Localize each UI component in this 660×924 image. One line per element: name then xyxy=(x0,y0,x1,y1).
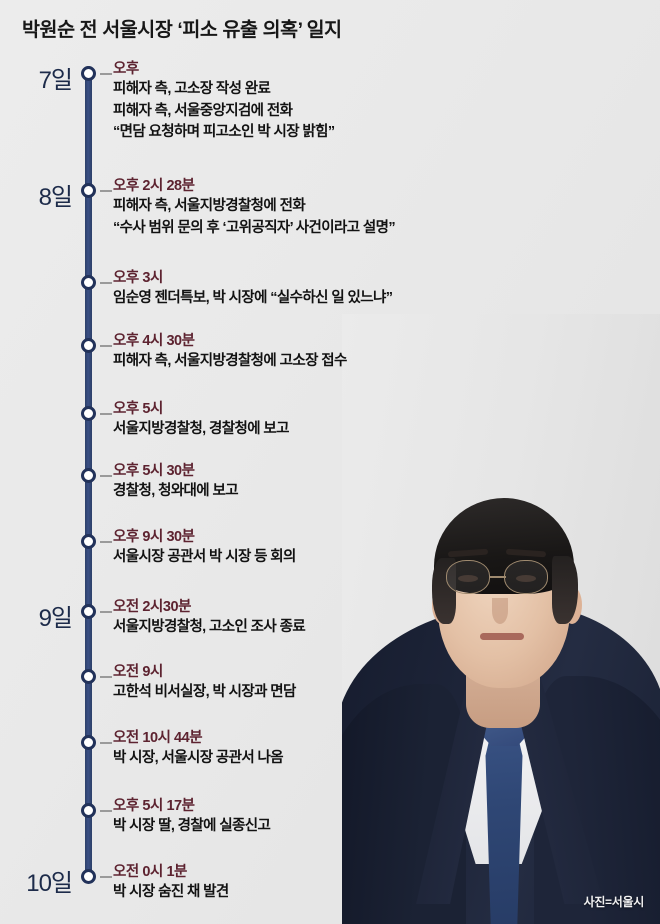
timeline-entry-body: 오후피해자 측, 고소장 작성 완료피해자 측, 서울중앙지검에 전화“면담 요… xyxy=(113,60,335,144)
timeline-entry-time: 오전 10시 44분 xyxy=(113,729,283,748)
timeline-dot-icon xyxy=(81,534,96,549)
timeline-entry-body: 오후 9시 30분서울시장 공관서 박 시장 등 회의 xyxy=(113,528,296,569)
timeline: 7일오후피해자 측, 고소장 작성 완료피해자 측, 서울중앙지검에 전화“면담… xyxy=(0,0,660,924)
timeline-entry-line: 경찰청, 청와대에 보고 xyxy=(113,481,238,503)
timeline-entry-time: 오후 xyxy=(113,60,335,79)
timeline-dot-icon xyxy=(81,869,96,884)
timeline-connector-dash xyxy=(100,676,112,678)
timeline-entry-line: 서울지방경찰청, 고소인 조사 종료 xyxy=(113,617,305,639)
page-title: 박원순 전 서울시장 ‘피소 유출 의혹’ 일지 xyxy=(22,13,342,42)
timeline-dot-icon xyxy=(81,183,96,198)
timeline-connector-dash xyxy=(100,73,112,75)
day-label: 7일 xyxy=(0,60,72,95)
timeline-connector-dash xyxy=(100,810,112,812)
timeline-entry-body: 오전 9시고한석 비서실장, 박 시장과 면담 xyxy=(113,663,296,704)
day-label: 9일 xyxy=(0,598,72,633)
timeline-connector-dash xyxy=(100,611,112,613)
timeline-entry-time: 오후 5시 xyxy=(113,400,289,419)
timeline-dot-icon xyxy=(81,406,96,421)
timeline-dot-icon xyxy=(81,803,96,818)
timeline-entry-body: 오전 10시 44분박 시장, 서울시장 공관서 나옴 xyxy=(113,729,283,770)
timeline-entry-time: 오후 2시 28분 xyxy=(113,177,395,196)
timeline-connector-dash xyxy=(100,345,112,347)
timeline-entry-time: 오전 2시30분 xyxy=(113,598,305,617)
timeline-entry-line: “면담 요청하며 피고소인 박 시장 밝힘” xyxy=(113,122,335,144)
timeline-connector-dash xyxy=(100,190,112,192)
timeline-connector-dash xyxy=(100,413,112,415)
day-label: 8일 xyxy=(0,177,72,212)
timeline-entry-line: 박 시장, 서울시장 공관서 나옴 xyxy=(113,748,283,770)
timeline-entry-body: 오후 3시임순영 젠더특보, 박 시장에 “실수하신 일 있느냐” xyxy=(113,269,392,310)
day-label: 10일 xyxy=(0,863,72,898)
timeline-entry-line: 서울지방경찰청, 경찰청에 보고 xyxy=(113,419,289,441)
timeline-entry-time: 오후 9시 30분 xyxy=(113,528,296,547)
timeline-entry-time: 오전 0시 1분 xyxy=(113,863,229,882)
timeline-dot-icon xyxy=(81,66,96,81)
timeline-entry-body: 오후 5시 17분박 시장 딸, 경찰에 실종신고 xyxy=(113,797,270,838)
timeline-dot-icon xyxy=(81,338,96,353)
timeline-entry-line: 서울시장 공관서 박 시장 등 회의 xyxy=(113,547,296,569)
timeline-entry-line: 임순영 젠더특보, 박 시장에 “실수하신 일 있느냐” xyxy=(113,288,392,310)
timeline-connector-dash xyxy=(100,876,112,878)
timeline-dot-icon xyxy=(81,275,96,290)
timeline-entry-body: 오후 4시 30분피해자 측, 서울지방경찰청에 고소장 접수 xyxy=(113,332,347,373)
timeline-entry-line: 피해자 측, 서울지방경찰청에 전화 xyxy=(113,196,395,218)
timeline-entry-time: 오후 5시 30분 xyxy=(113,462,238,481)
timeline-connector-dash xyxy=(100,475,112,477)
timeline-entry-body: 오후 5시 30분경찰청, 청와대에 보고 xyxy=(113,462,238,503)
timeline-entry-line: 피해자 측, 서울지방경찰청에 고소장 접수 xyxy=(113,351,347,373)
timeline-entry-time: 오전 9시 xyxy=(113,663,296,682)
timeline-dot-icon xyxy=(81,735,96,750)
timeline-entry-line: 피해자 측, 서울중앙지검에 전화 xyxy=(113,101,335,123)
timeline-entry-time: 오후 4시 30분 xyxy=(113,332,347,351)
timeline-entry-body: 오후 2시 28분피해자 측, 서울지방경찰청에 전화“수사 범위 문의 후 ‘… xyxy=(113,177,395,239)
timeline-entry-time: 오후 3시 xyxy=(113,269,392,288)
timeline-entry-body: 오전 2시30분서울지방경찰청, 고소인 조사 종료 xyxy=(113,598,305,639)
timeline-connector-dash xyxy=(100,742,112,744)
timeline-connector-dash xyxy=(100,282,112,284)
timeline-connector-dash xyxy=(100,541,112,543)
timeline-dot-icon xyxy=(81,468,96,483)
timeline-entry-time: 오후 5시 17분 xyxy=(113,797,270,816)
infographic-page: 박원순 전 서울시장 ‘피소 유출 의혹’ 일지 7일오후피해자 측, 고소장 … xyxy=(0,0,660,924)
timeline-entry-line: 고한석 비서실장, 박 시장과 면담 xyxy=(113,682,296,704)
timeline-dot-icon xyxy=(81,669,96,684)
photo-credit: 사진=서울시 xyxy=(584,893,644,910)
timeline-entry-line: “수사 범위 문의 후 ‘고위공직자’ 사건이라고 설명” xyxy=(113,218,395,240)
timeline-dot-icon xyxy=(81,604,96,619)
timeline-entry-line: 피해자 측, 고소장 작성 완료 xyxy=(113,79,335,101)
timeline-entry-line: 박 시장 숨진 채 발견 xyxy=(113,882,229,904)
timeline-entry-body: 오후 5시서울지방경찰청, 경찰청에 보고 xyxy=(113,400,289,441)
timeline-entry-line: 박 시장 딸, 경찰에 실종신고 xyxy=(113,816,270,838)
timeline-entry-body: 오전 0시 1분박 시장 숨진 채 발견 xyxy=(113,863,229,904)
